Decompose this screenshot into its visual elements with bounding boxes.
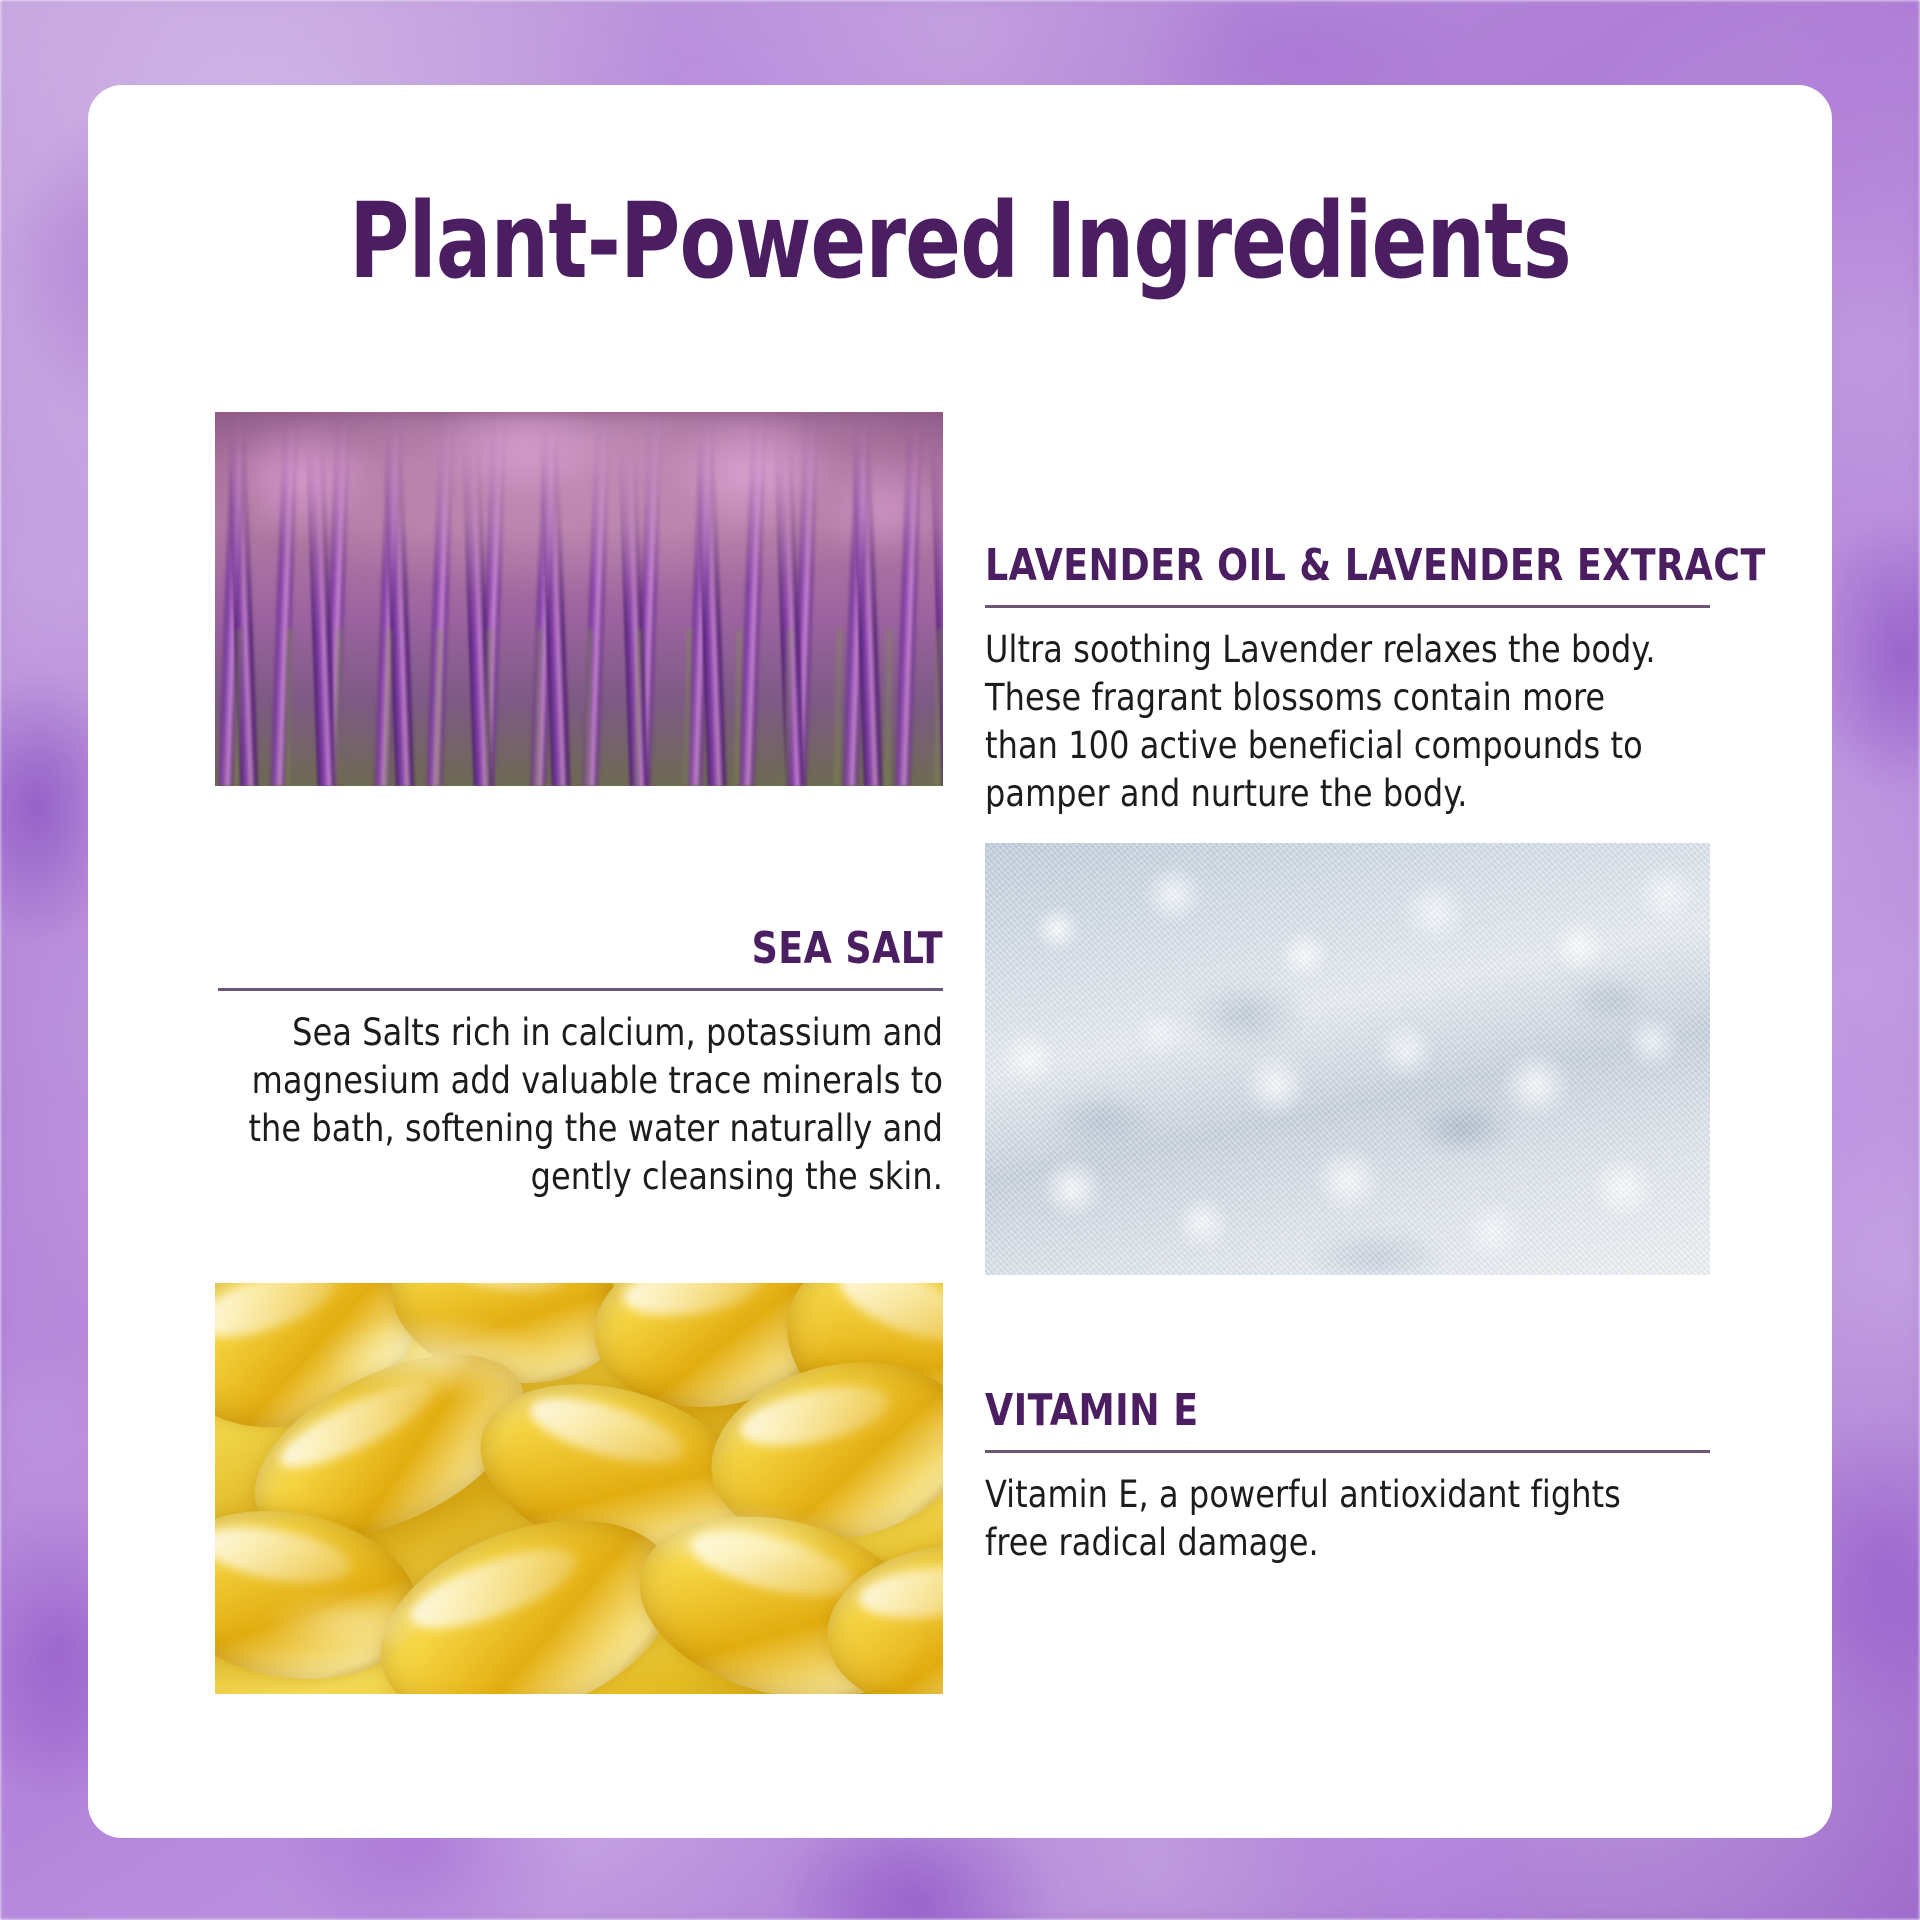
section-lavender-body: Ultra soothing Lavender relaxes the body…	[985, 626, 1681, 818]
section-vitamin-e-heading: VITAMIN E	[985, 1385, 1652, 1436]
ingredients-card: Plant-Powered Ingredients LAVENDER OIL &…	[88, 85, 1832, 1838]
section-vitamin-e: VITAMIN E Vitamin E, a powerful antioxid…	[985, 1385, 1710, 1567]
lavender-image-bokeh	[215, 412, 943, 786]
section-sea-salt-divider	[218, 988, 943, 991]
lavender-field-image	[215, 412, 943, 786]
vitamin-e-image-gloss	[215, 1283, 943, 1694]
section-sea-salt-heading: SEA SALT	[276, 923, 943, 974]
section-lavender: LAVENDER OIL & LAVENDER EXTRACT Ultra so…	[985, 540, 1710, 818]
section-vitamin-e-divider	[985, 1450, 1710, 1453]
sea-salt-image-grain	[985, 843, 1710, 1275]
section-lavender-heading: LAVENDER OIL & LAVENDER EXTRACT	[985, 540, 1652, 591]
section-lavender-divider	[985, 605, 1710, 608]
sea-salt-image	[985, 843, 1710, 1275]
section-sea-salt: SEA SALT Sea Salts rich in calcium, pota…	[218, 923, 943, 1201]
section-sea-salt-body: Sea Salts rich in calcium, potassium and…	[247, 1009, 943, 1201]
page-title: Plant-Powered Ingredients	[193, 180, 1728, 302]
section-vitamin-e-body: Vitamin E, a powerful antioxidant fights…	[985, 1471, 1681, 1567]
vitamin-e-image	[215, 1283, 943, 1694]
